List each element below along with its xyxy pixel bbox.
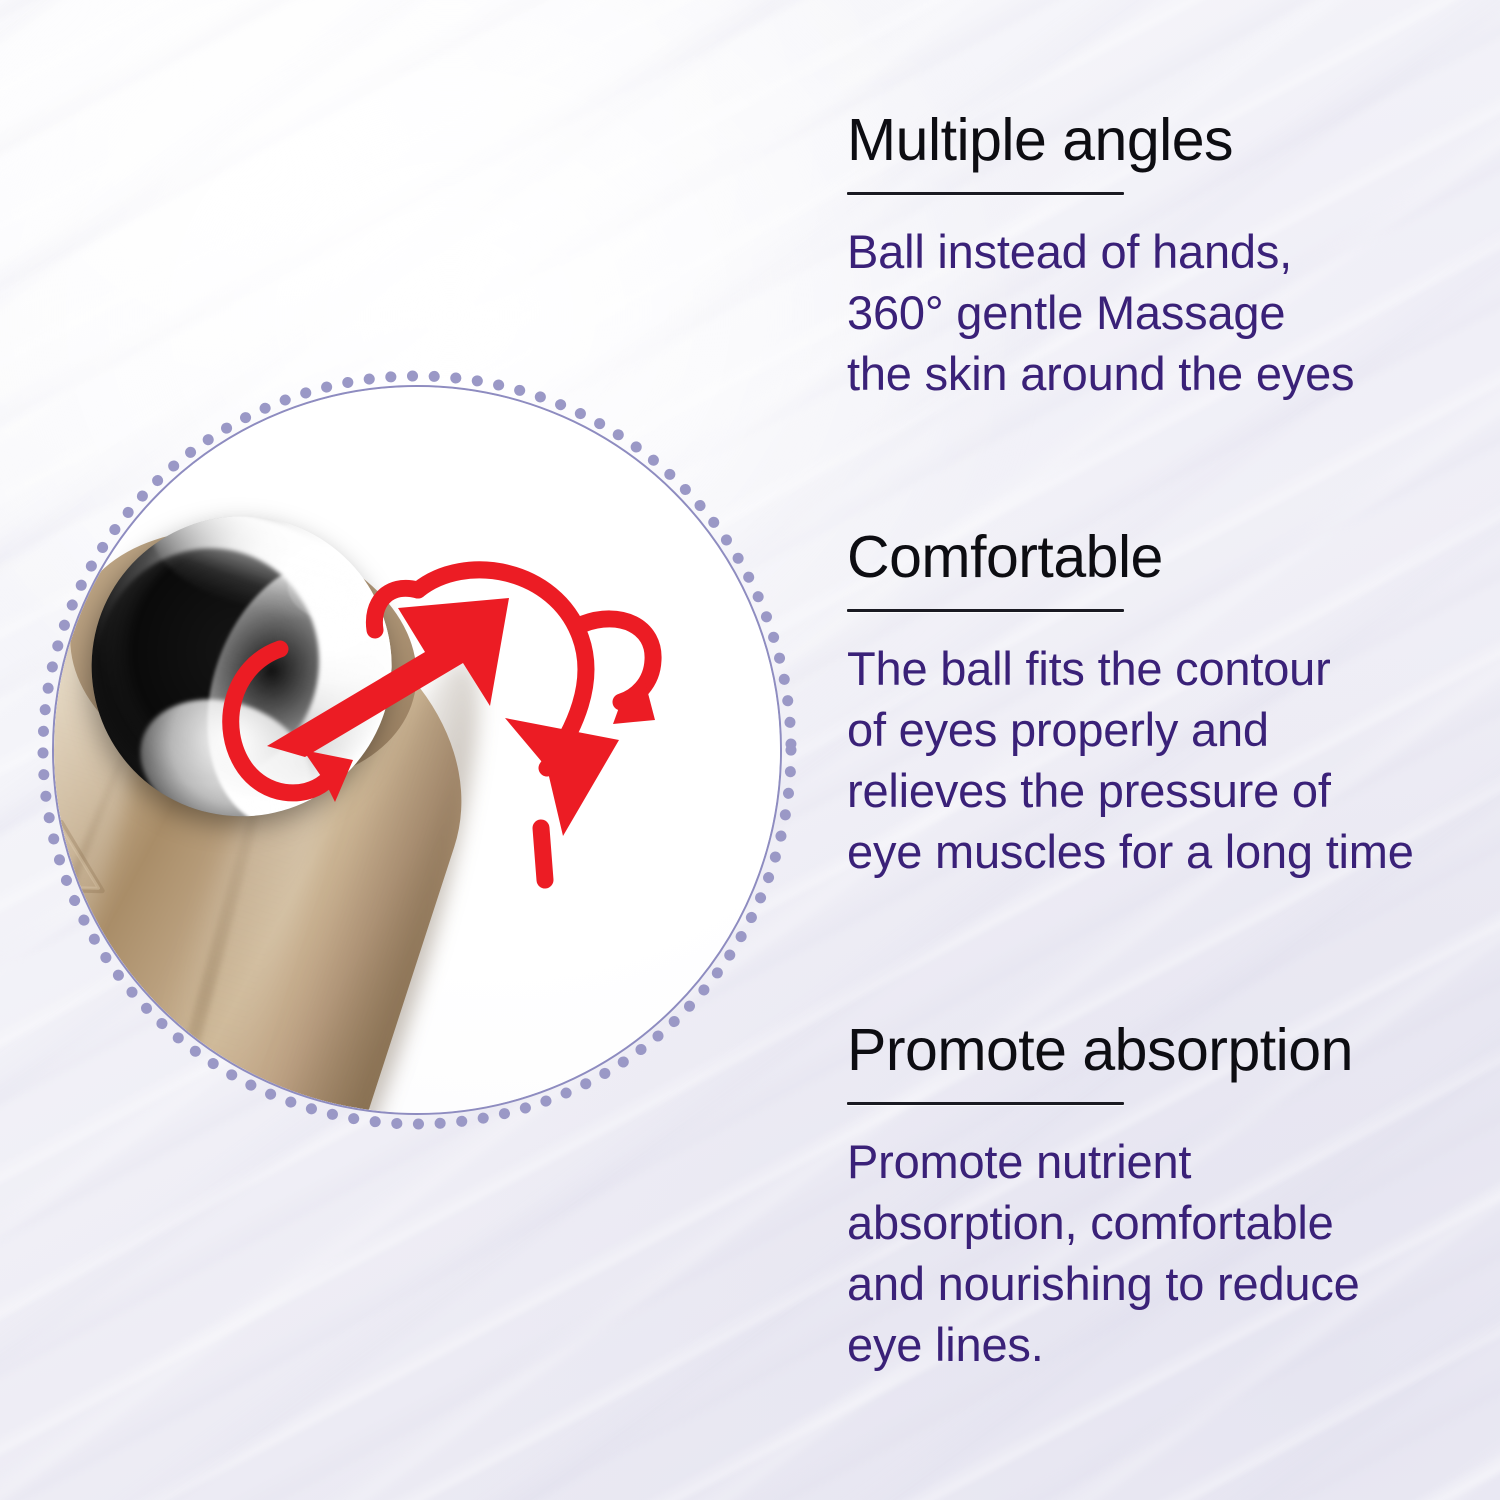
feature-divider	[847, 1102, 1124, 1105]
product-close-up-circle	[35, 368, 799, 1132]
feature-multiple-angles: Multiple angles Ball instead of hands, 3…	[847, 110, 1467, 404]
roller-pen-product	[54, 465, 526, 1113]
feature-divider	[847, 609, 1124, 612]
feature-divider	[847, 192, 1124, 195]
feature-comfortable: Comfortable The ball fits the contour of…	[847, 527, 1467, 882]
feature-promote-absorption: Promote absorption Promote nutrient abso…	[847, 1020, 1467, 1375]
feature-list: Multiple angles Ball instead of hands, 3…	[847, 0, 1467, 1500]
feature-title: Promote absorption	[847, 1020, 1467, 1080]
product-circle-face	[54, 387, 780, 1113]
feature-description: Ball instead of hands, 360° gentle Massa…	[847, 221, 1467, 404]
product-circle-frame	[52, 385, 782, 1115]
feature-description: The ball fits the contour of eyes proper…	[847, 638, 1467, 882]
product-feature-page: Multiple angles Ball instead of hands, 3…	[0, 0, 1500, 1500]
feature-description: Promote nutrient absorption, comfortable…	[847, 1131, 1467, 1375]
feature-title: Comfortable	[847, 527, 1467, 587]
feature-title: Multiple angles	[847, 110, 1467, 170]
